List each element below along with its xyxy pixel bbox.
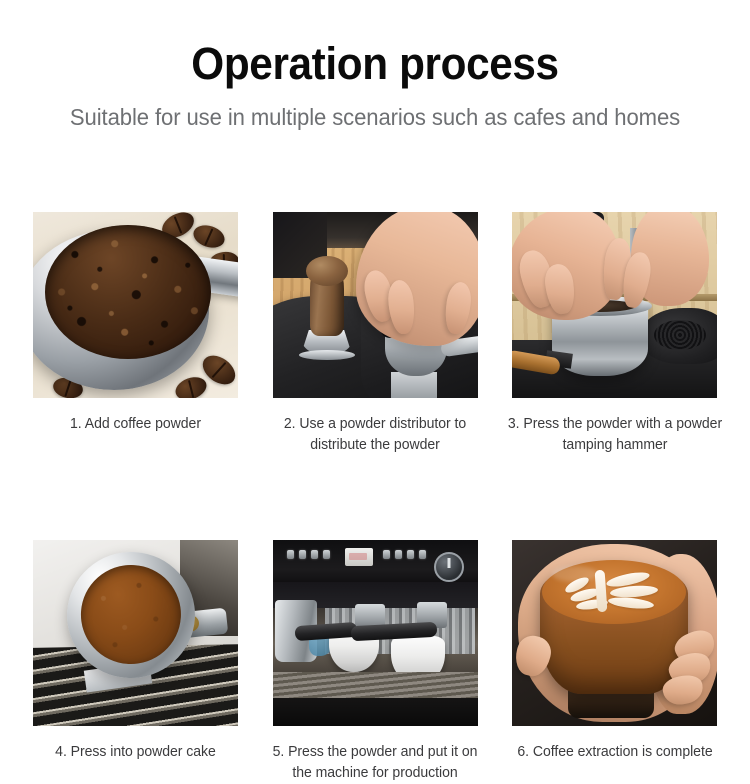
- step-image-1: [33, 212, 238, 398]
- step-caption-4: 4. Press into powder cake: [31, 742, 240, 763]
- rosetta-leaf: [608, 596, 655, 611]
- steps-row-1: 1. Add coffee powder: [33, 212, 717, 456]
- control-button: [323, 550, 330, 559]
- steps-grid: 1. Add coffee powder: [33, 212, 717, 784]
- step-image-5: [273, 540, 478, 726]
- control-button: [419, 550, 426, 559]
- highlight: [552, 566, 598, 582]
- header: Operation process Suitable for use in mu…: [0, 0, 750, 133]
- machine-control-panel: [273, 540, 478, 582]
- control-button: [299, 550, 306, 559]
- tamper-base-disc: [299, 350, 355, 360]
- operation-process-infographic: Operation process Suitable for use in mu…: [0, 0, 750, 750]
- coffee-puck: [75, 559, 188, 671]
- steps-row-2: 4. Press into powder cake: [33, 540, 717, 784]
- control-button: [383, 550, 390, 559]
- control-button: [395, 550, 402, 559]
- wooden-tamper-knob: [306, 256, 348, 286]
- step-card-6: 6. Coffee extraction is complete: [512, 540, 717, 784]
- step-caption-5: 5. Press the powder and put it on the ma…: [262, 742, 487, 784]
- coffee-bean: [172, 373, 209, 398]
- step-image-4: [33, 540, 238, 726]
- page-title: Operation process: [23, 0, 728, 90]
- control-button: [287, 550, 294, 559]
- step-caption-3: 3. Press the powder with a powder tampin…: [502, 414, 727, 456]
- step-card-2: 2. Use a powder distributor to distribut…: [273, 212, 478, 456]
- step-card-3: 3. Press the powder with a powder tampin…: [512, 212, 717, 456]
- step-caption-6: 6. Coffee extraction is complete: [502, 742, 727, 763]
- control-button: [311, 550, 318, 559]
- machine-base: [273, 698, 478, 726]
- control-button: [407, 550, 414, 559]
- step-caption-1: 1. Add coffee powder: [31, 414, 240, 435]
- step-image-2: [273, 212, 478, 398]
- step-card-4: 4. Press into powder cake: [33, 540, 238, 784]
- page-subtitle: Suitable for use in multiple scenarios s…: [15, 90, 735, 133]
- coffee-grounds-basket: [45, 225, 211, 359]
- step-caption-2: 2. Use a powder distributor to distribut…: [262, 414, 487, 456]
- step-image-3: [512, 212, 717, 398]
- steam-knob: [434, 552, 464, 582]
- grounds-texture-fine: [45, 225, 211, 359]
- step-card-1: 1. Add coffee powder: [33, 212, 238, 456]
- step-image-6: [512, 540, 717, 726]
- machine-display: [345, 548, 373, 566]
- knock-box-tray: [640, 308, 717, 364]
- step-card-5: 5. Press the powder and put it on the ma…: [273, 540, 478, 784]
